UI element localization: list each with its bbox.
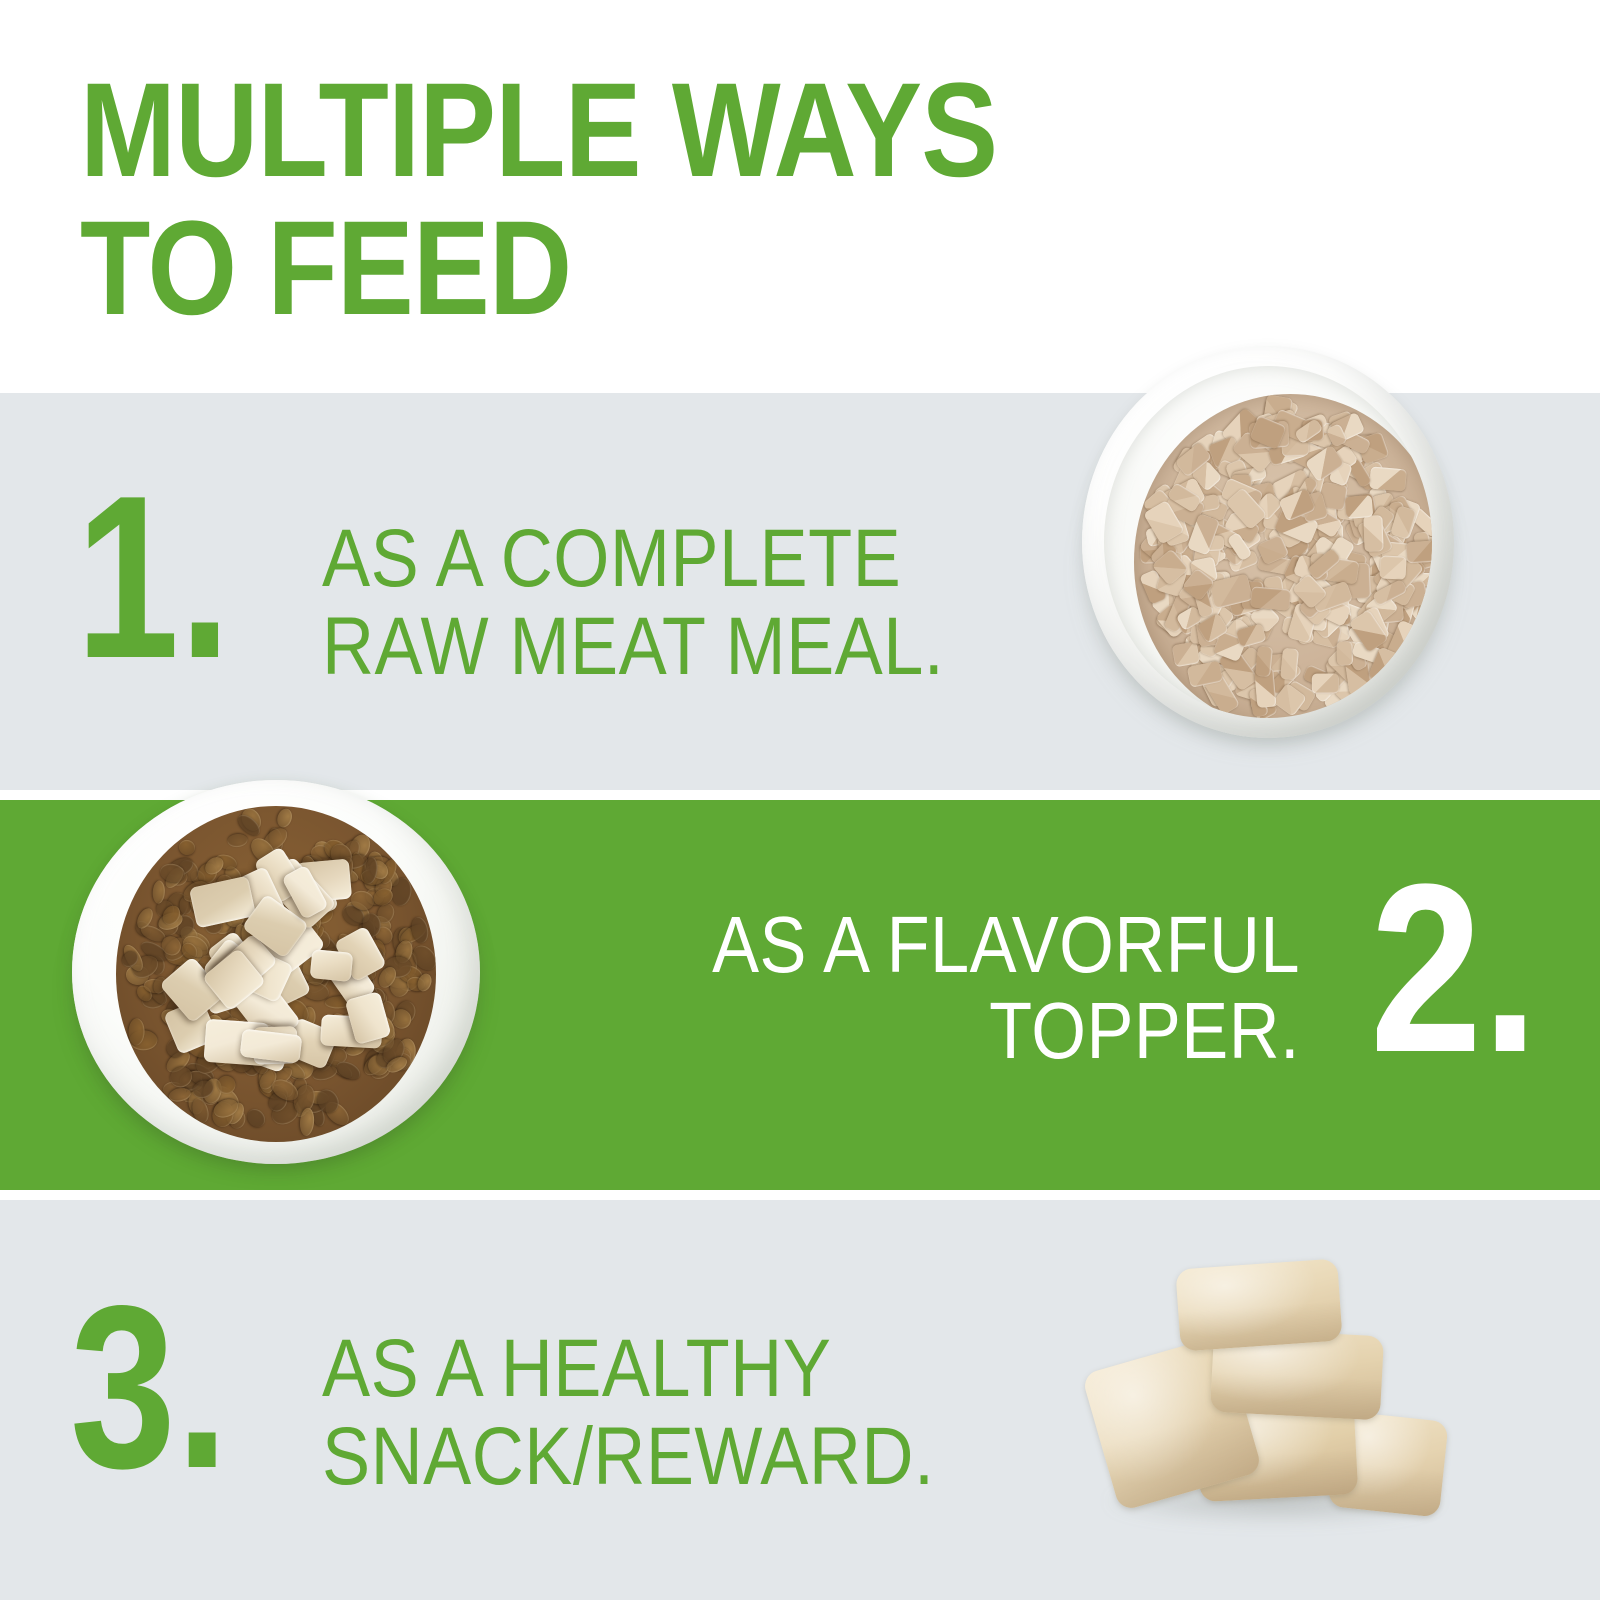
topper-nugget bbox=[310, 949, 353, 981]
nugget-piece bbox=[1379, 555, 1406, 579]
infographic-canvas: MULTIPLE WAYS TO FEED 1. AS A COMPLETE R… bbox=[0, 0, 1600, 1600]
nugget-piece bbox=[1364, 515, 1384, 551]
nugget-piece bbox=[1280, 648, 1299, 680]
nugget-piece bbox=[1336, 641, 1353, 665]
kibble-piece bbox=[177, 838, 197, 857]
nugget-piece bbox=[1250, 586, 1291, 610]
page-title: MULTIPLE WAYS TO FEED bbox=[80, 62, 1069, 338]
row-number-1: 1. bbox=[76, 462, 231, 694]
stack-nugget-face bbox=[1175, 1258, 1342, 1351]
row-number-3: 3. bbox=[70, 1272, 229, 1504]
kibble-piece bbox=[244, 1106, 268, 1130]
row-label-2: AS A FLAVORFUL TOPPER. bbox=[712, 902, 1300, 1073]
kibble-piece bbox=[310, 1064, 338, 1083]
bowl-rim bbox=[1104, 366, 1432, 718]
nugget-piece bbox=[1406, 540, 1432, 564]
kibble-piece bbox=[334, 1058, 363, 1083]
nugget-piece bbox=[1369, 466, 1407, 491]
nugget-piece bbox=[1344, 495, 1373, 519]
row-label-1: AS A COMPLETE RAW MEAT MEAL. bbox=[322, 515, 944, 690]
bowl-of-raw-meat-nuggets-image bbox=[1068, 340, 1468, 760]
row-label-3: AS A HEALTHY SNACK/REWARD. bbox=[322, 1325, 934, 1500]
kibble-bed bbox=[116, 806, 436, 1142]
bowl-body bbox=[1082, 346, 1454, 738]
kibble-piece bbox=[227, 833, 248, 848]
plate-body bbox=[72, 780, 480, 1164]
nugget-piece bbox=[1172, 641, 1201, 667]
plate-of-kibble-with-topper-image bbox=[56, 776, 496, 1176]
kibble-piece bbox=[275, 807, 295, 830]
raw-nugget-pile bbox=[1134, 394, 1432, 718]
nugget-piece bbox=[1311, 674, 1338, 694]
stack-of-freeze-dried-nuggets-image bbox=[1080, 1248, 1480, 1548]
stack-nugget bbox=[1175, 1258, 1342, 1351]
row-number-2: 2. bbox=[1370, 848, 1538, 1088]
